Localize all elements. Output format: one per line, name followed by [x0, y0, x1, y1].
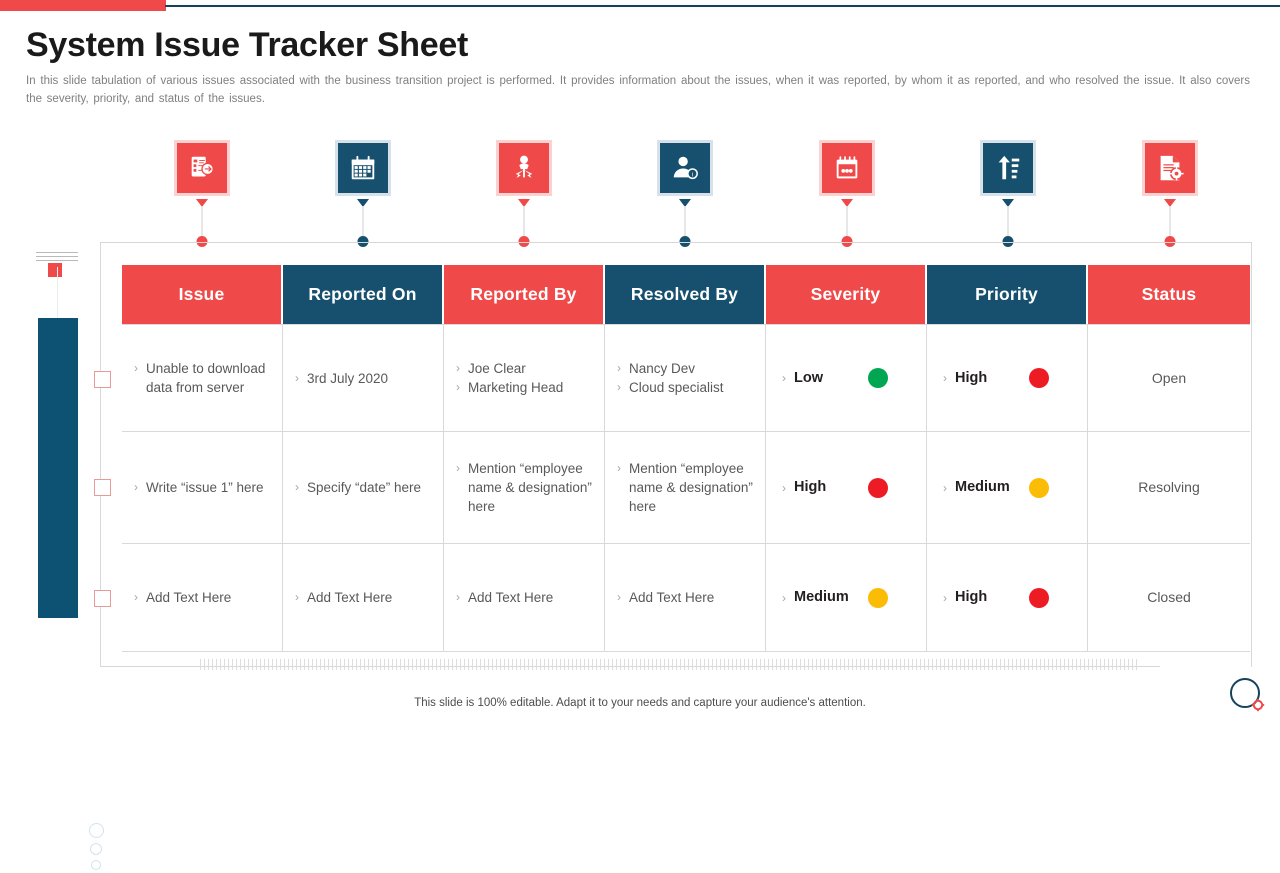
- table-row: ›Add Text Here›Add Text Here›Add Text He…: [122, 544, 1250, 652]
- cell-status[interactable]: Open: [1088, 325, 1250, 431]
- icon-node-resolved-by[interactable]: i: [657, 140, 713, 193]
- frame-top-rule: [100, 242, 1252, 243]
- icon-node-severity[interactable]: [819, 140, 875, 193]
- bullet-chevron-icon: ›: [617, 459, 621, 478]
- cell-text: Add Text Here: [146, 588, 270, 607]
- column-header-priority[interactable]: Priority: [927, 265, 1088, 324]
- bullet-chevron-icon: ›: [782, 481, 786, 495]
- bullet-chevron-icon: ›: [943, 591, 947, 605]
- cell-text: Add Text Here: [468, 588, 592, 607]
- cell-severity-label: High: [794, 478, 826, 497]
- cell-priority-indicator-dot: [1029, 588, 1049, 608]
- cell-priority-label: High: [955, 588, 987, 607]
- cell-status[interactable]: Resolving: [1088, 432, 1250, 543]
- decor-square-red: [48, 263, 62, 277]
- cell-severity[interactable]: ›High: [766, 432, 927, 543]
- cell-priority[interactable]: ›Medium: [927, 432, 1088, 543]
- icon-node-reported-by[interactable]: [496, 140, 552, 193]
- person-arrows-icon: [499, 143, 549, 193]
- cell-text: Add Text Here: [629, 588, 753, 607]
- issue-tracker-table: Issue Reported On Reported By Resolved B…: [122, 265, 1250, 652]
- bullet-chevron-icon: ›: [456, 359, 460, 378]
- column-header-resolved-by[interactable]: Resolved By: [605, 265, 766, 324]
- decor-hatch-rule: [200, 659, 1140, 670]
- top-rule-navy: [165, 5, 1280, 7]
- row-marker-3[interactable]: [94, 590, 111, 607]
- checklist-form-icon: [177, 143, 227, 193]
- cell-priority-label: High: [955, 369, 987, 388]
- document-gear-icon: [1145, 143, 1195, 193]
- cell-reported-on[interactable]: ›Specify “date” here: [283, 432, 444, 543]
- cell-text: Unable to download data from server: [146, 359, 270, 397]
- cell-priority-indicator-dot: [1029, 368, 1049, 388]
- cell-severity[interactable]: ›Medium: [766, 544, 927, 651]
- column-header-issue[interactable]: Issue: [122, 265, 283, 324]
- cell-reported-on[interactable]: ›Add Text Here: [283, 544, 444, 651]
- cell-resolved-by[interactable]: ›Add Text Here: [605, 544, 766, 651]
- frame-right-rule: [1251, 242, 1252, 667]
- page-subtitle: In this slide tabulation of various issu…: [26, 72, 1250, 108]
- cell-reported-by[interactable]: ›Mention “employee name & designation” h…: [444, 432, 605, 543]
- icon-timeline: i: [0, 140, 1280, 255]
- table-row: ›Write “issue 1” here›Specify “date” her…: [122, 432, 1250, 544]
- cell-severity-label: Medium: [794, 588, 849, 607]
- calendar-icon: [338, 143, 388, 193]
- brand-logo-icon: [1228, 676, 1268, 714]
- bullet-chevron-icon: ›: [617, 359, 621, 378]
- cell-priority[interactable]: ›High: [927, 325, 1088, 431]
- bullet-chevron-icon: ›: [943, 481, 947, 495]
- bullet-chevron-icon: ›: [617, 378, 621, 397]
- slide-canvas: System Issue Tracker Sheet In this slide…: [0, 0, 1280, 720]
- row-marker-2[interactable]: [94, 479, 111, 496]
- bullet-chevron-icon: ›: [456, 588, 460, 607]
- icon-node-reported-on[interactable]: [335, 140, 391, 193]
- cell-text: Nancy Dev: [629, 359, 753, 378]
- cell-text: Cloud specialist: [629, 378, 753, 397]
- footer-note: This slide is 100% editable. Adapt it to…: [0, 697, 1280, 709]
- cell-text: Add Text Here: [307, 588, 431, 607]
- bullet-chevron-icon: ›: [134, 359, 138, 378]
- cell-issue[interactable]: ›Write “issue 1” here: [122, 432, 283, 543]
- cell-reported-on[interactable]: ›3rd July 2020: [283, 325, 444, 431]
- bullet-chevron-icon: ›: [782, 591, 786, 605]
- column-header-reported-by[interactable]: Reported By: [444, 265, 605, 324]
- table-header-row: Issue Reported On Reported By Resolved B…: [122, 265, 1250, 324]
- table-body: ›Unable to download data from server›3rd…: [122, 324, 1250, 652]
- top-accent-bar-red: [0, 0, 166, 11]
- cell-severity-label: Low: [794, 369, 823, 388]
- bullet-chevron-icon: ›: [295, 369, 299, 388]
- cell-text: Mention “employee name & designation” he…: [468, 459, 592, 516]
- cell-reported-by[interactable]: ›Add Text Here: [444, 544, 605, 651]
- icon-node-status[interactable]: [1142, 140, 1198, 193]
- cell-status[interactable]: Closed: [1088, 544, 1250, 651]
- cell-issue[interactable]: ›Add Text Here: [122, 544, 283, 651]
- cell-resolved-by[interactable]: ›Mention “employee name & designation” h…: [605, 432, 766, 543]
- cell-severity-indicator-dot: [868, 478, 888, 498]
- bullet-chevron-icon: ›: [295, 478, 299, 497]
- cell-text: Mention “employee name & designation” he…: [629, 459, 753, 516]
- cell-text: Marketing Head: [468, 378, 592, 397]
- row-marker-1[interactable]: [94, 371, 111, 388]
- calendar-dots-icon: [822, 143, 872, 193]
- page-title: System Issue Tracker Sheet: [26, 26, 468, 65]
- cell-severity-indicator-dot: [868, 588, 888, 608]
- cell-priority[interactable]: ›High: [927, 544, 1088, 651]
- cell-severity-indicator-dot: [868, 368, 888, 388]
- cell-resolved-by[interactable]: ›Nancy Dev›Cloud specialist: [605, 325, 766, 431]
- cell-priority-label: Medium: [955, 478, 1010, 497]
- icon-node-priority[interactable]: [980, 140, 1036, 193]
- cell-text: Specify “date” here: [307, 478, 431, 497]
- cell-issue[interactable]: ›Unable to download data from server: [122, 325, 283, 431]
- bullet-chevron-icon: ›: [943, 371, 947, 385]
- bullet-chevron-icon: ›: [134, 478, 138, 497]
- icon-node-issue[interactable]: [174, 140, 230, 193]
- bullet-chevron-icon: ›: [456, 459, 460, 478]
- cell-text: 3rd July 2020: [307, 369, 431, 388]
- bullet-chevron-icon: ›: [295, 588, 299, 607]
- cell-priority-indicator-dot: [1029, 478, 1049, 498]
- column-header-reported-on[interactable]: Reported On: [283, 265, 444, 324]
- column-header-status[interactable]: Status: [1088, 265, 1250, 324]
- column-header-severity[interactable]: Severity: [766, 265, 927, 324]
- decor-circles: [83, 823, 109, 873]
- cell-text: Write “issue 1” here: [146, 478, 270, 497]
- cell-severity[interactable]: ›Low: [766, 325, 927, 431]
- decor-navy-bar: [38, 318, 78, 618]
- bullet-chevron-icon: ›: [134, 588, 138, 607]
- table-row: ›Unable to download data from server›3rd…: [122, 324, 1250, 432]
- priority-arrow-up-icon: [983, 143, 1033, 193]
- user-badge-icon: i: [660, 143, 710, 193]
- bullet-chevron-icon: ›: [782, 371, 786, 385]
- svg-text:i: i: [692, 172, 693, 179]
- bullet-chevron-icon: ›: [617, 588, 621, 607]
- cell-text: Joe Clear: [468, 359, 592, 378]
- cell-reported-by[interactable]: ›Joe Clear›Marketing Head: [444, 325, 605, 431]
- bullet-chevron-icon: ›: [456, 378, 460, 397]
